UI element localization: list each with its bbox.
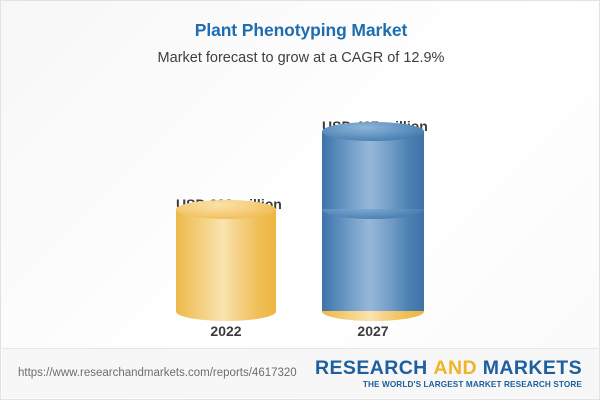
cylinder-2027 [322, 131, 424, 311]
infographic-card: Plant Phenotyping Market Market forecast… [0, 0, 600, 400]
bar-group-2027: USD 437 million 2027 [322, 1, 424, 349]
bar-group-2022: USD 238 million 2022 [176, 1, 276, 349]
cylinder-body-growth-2027 [322, 131, 424, 209]
logo-word-markets: MARKETS [483, 357, 582, 379]
logo-wordmark: RESEARCH AND MARKETS [315, 358, 582, 379]
cylinder-segment-base-2022 [176, 209, 276, 311]
logo-word-and: AND [434, 357, 477, 379]
cylinder-segment-base-2027 [322, 209, 424, 311]
cylinder-top-cap-2022 [176, 200, 276, 219]
cylinder-segment-growth-2027 [322, 131, 424, 209]
cylinder-body-base-2027 [322, 209, 424, 311]
research-and-markets-logo[interactable]: RESEARCH AND MARKETS THE WORLD'S LARGEST… [315, 358, 582, 390]
bar-category-label-2027: 2027 [322, 323, 424, 339]
bar-category-label-2022: 2022 [176, 323, 276, 339]
chart-plot-area: USD 238 million 2022 USD 437 million [1, 1, 600, 349]
logo-word-research: RESEARCH [315, 357, 428, 379]
logo-tagline: THE WORLD'S LARGEST MARKET RESEARCH STOR… [315, 380, 582, 390]
cylinder-2022 [176, 209, 276, 311]
report-url-link[interactable]: https://www.researchandmarkets.com/repor… [18, 366, 297, 380]
cylinder-top-cap-2027 [322, 122, 424, 141]
cylinder-body-2022 [176, 209, 276, 311]
footer-bar: https://www.researchandmarkets.com/repor… [2, 348, 598, 398]
